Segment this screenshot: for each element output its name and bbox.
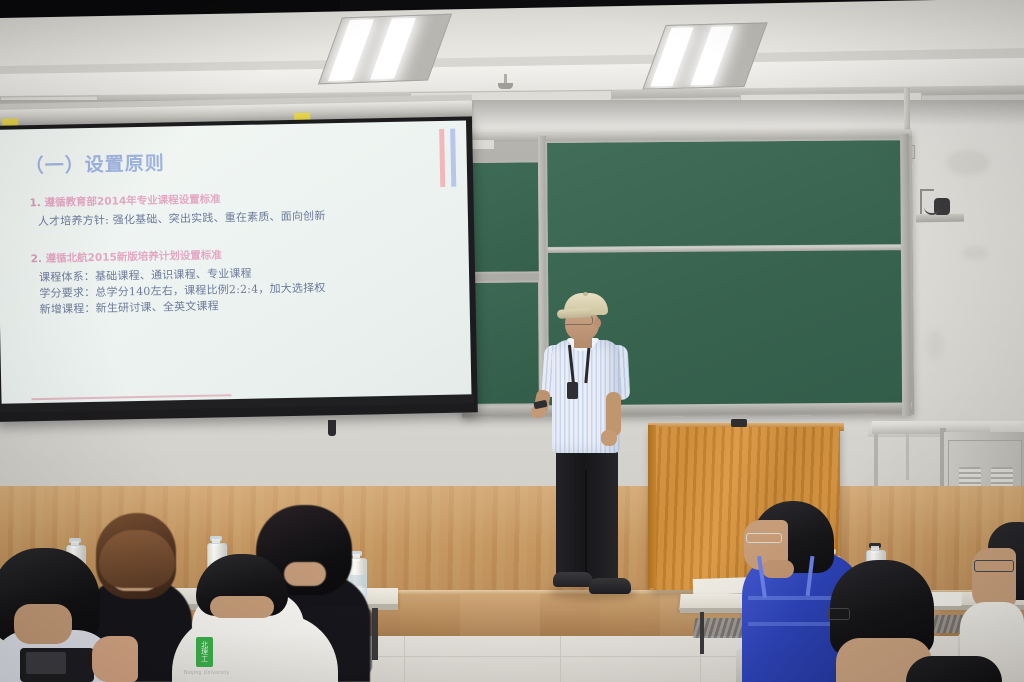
presenter-leg-seam [585,470,587,578]
presenter-trousers [556,448,618,580]
podium-left-edge [648,425,656,588]
tshirt-logo-char-bot: 工 [201,656,208,663]
presenter-shoe-left [553,572,593,587]
presenter-id-badge [567,382,578,399]
tshirt-logo-char-top: 北 [201,642,208,649]
wall-stain [962,246,988,260]
presenter-shoe-right [589,578,631,594]
fluorescent-tube [690,26,733,85]
projection-screen-surface: （一）设置原则 1. 遵循教育部2014年专业课程设置标准 人才培养方针: 强化… [0,120,472,409]
audience-member-hand [92,636,138,682]
audience-member-hair [99,530,175,588]
phone-screen[interactable] [26,652,66,674]
slide-section-1-heading: 1. 遵循教育部2014年专业课程设置标准 [29,191,220,210]
cap-button [583,292,588,296]
audience-member-neck [762,560,794,578]
fluorescent-tube [370,18,416,80]
audience-member-neck [210,596,274,618]
audience-member-face [972,548,1016,610]
screen-pull-hook [328,420,336,436]
slide-section-2-heading: 2. 遵循北航2015新版培养计划设置标准 [31,247,222,266]
chalkboard-label-plate [472,140,494,149]
presentation-slide: （一）设置原则 1. 遵循教育部2014年专业课程设置标准 人才培养方针: 强化… [2,124,478,413]
cabinet-leg [906,434,909,480]
wall-stain [926,330,944,360]
slide-section-2-heading-text: 遵循北航2015新版培养计划设置标准 [46,249,222,265]
slide-section-2-line-3: 新增课程：新生研讨课、全英文课程 [40,297,219,317]
cabinet-leg [874,434,878,486]
glasses-icon [828,608,850,620]
audience-member-neck [284,562,326,586]
podium-clip-icon [731,419,747,427]
slide-accent-bar-pink [439,129,445,187]
slide-accent-bar-blue [450,129,456,187]
glasses-icon [746,533,782,543]
desk-leg [700,612,704,654]
shelf-bracket-arm [920,190,922,214]
chalkboard-side-panel-top [466,160,541,274]
desk-leg [372,608,378,660]
slide-section-1-heading-text: 遵循教育部2014年专业课程设置标准 [44,193,220,209]
tshirt-logo-subtitle: Beijing University [184,670,230,676]
presenter-ear [594,318,601,328]
slide-section-1-number: 1. [29,197,41,209]
slide-title: （一）设置原则 [25,149,166,179]
audience-member-neck [14,604,72,644]
glasses-icon [974,560,1014,572]
shelf-bracket-arm [920,189,934,191]
sprinkler-head-icon [498,83,513,89]
tshirt-logo-char-mid: 理 [201,649,208,656]
tile-grout-line [404,636,405,682]
classroom-lecture-photo: （一）设置原则 1. 遵循教育部2014年专业课程设置标准 人才培养方针: 强化… [0,0,1024,682]
tshirt-logo-badge: 北 理 工 [196,637,213,667]
presenter-cap-brim [557,308,591,319]
slide-section-2-number: 2. [31,253,43,265]
tile-grout-line [560,636,561,682]
slide-section-1-line-1: 人才培养方针: 强化基础、突出实践、重在素质、面向创新 [38,207,326,229]
wall-stain [946,150,990,176]
projection-screen-frame: （一）设置原则 1. 遵循教育部2014年专业课程设置标准 人才培养方针: 强化… [0,116,478,422]
audience-member-hair [906,656,1002,682]
presenter-hand-right [601,430,617,446]
